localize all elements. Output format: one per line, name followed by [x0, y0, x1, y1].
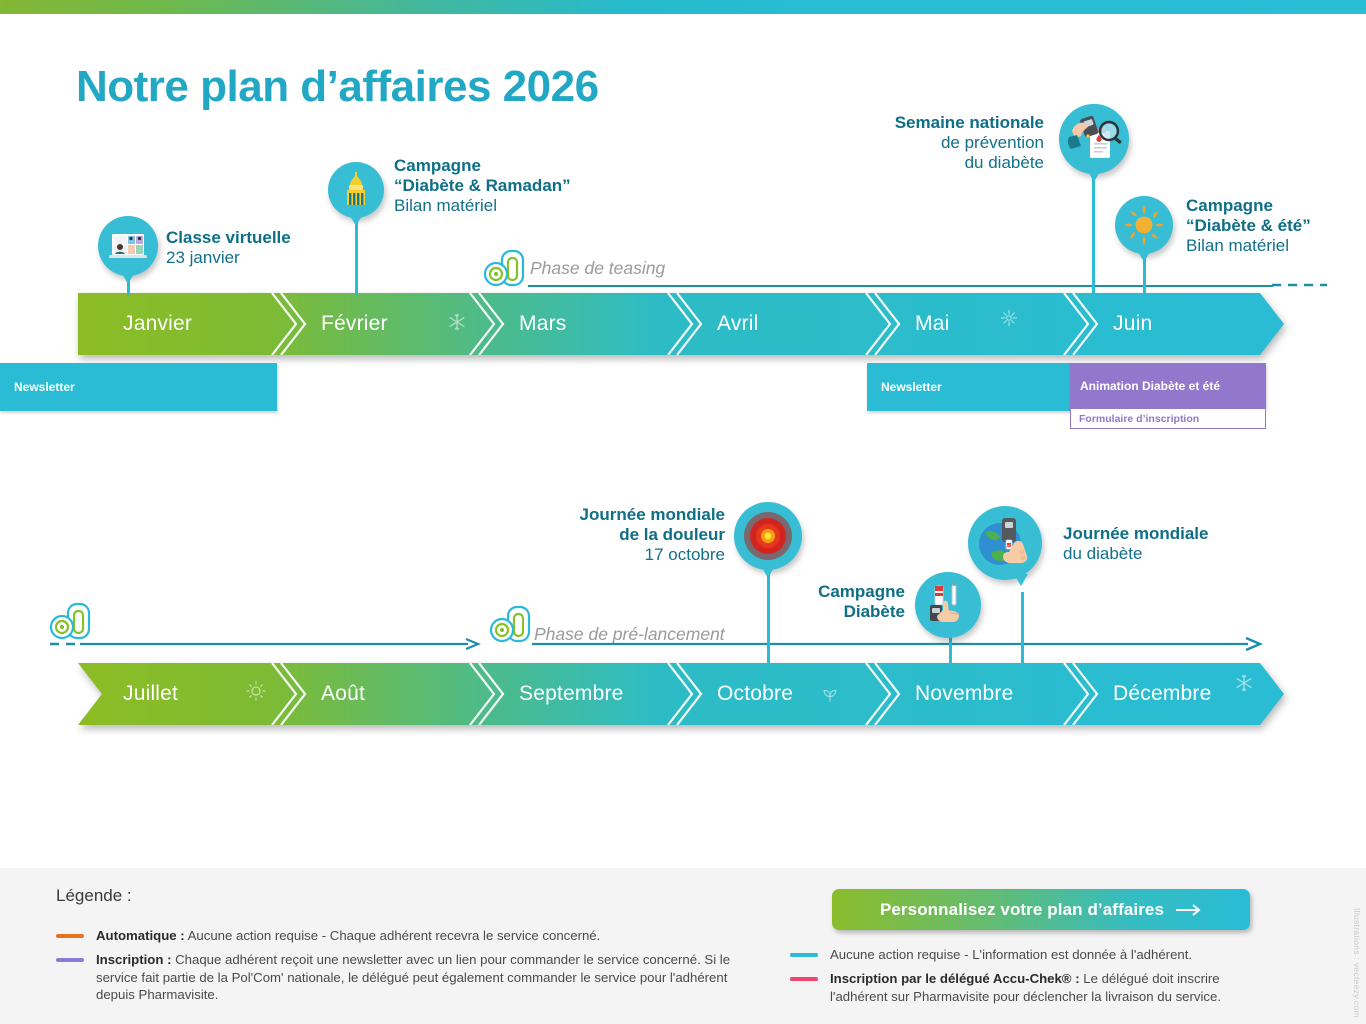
illustration-credit: Illustrations : vecteezy.com — [1352, 908, 1362, 1018]
prelaunch-arrow-right — [532, 636, 1272, 652]
month-label-septembre: Septembre — [519, 682, 624, 706]
callout-title-line2: “Diabète & Ramadan” — [394, 176, 571, 196]
legend-desc: Chaque adhérent reçoit une newsletter av… — [96, 952, 730, 1002]
callout-subtitle: du diabète — [1063, 544, 1208, 564]
legend-item-automatique: Automatique : Aucune action requise - Ch… — [56, 927, 756, 945]
bubble-tail-2 — [349, 214, 363, 226]
flower-icon — [998, 307, 1020, 329]
callout-journee-diabete: Journée mondiale du diabète — [1063, 524, 1208, 564]
callout-subtitle-line1: de prévention — [754, 133, 1044, 153]
legend-item-inscription: Inscription : Chaque adhérent reçoit une… — [56, 951, 756, 1004]
animation-label: Animation Diabète et été — [1080, 379, 1220, 393]
newsletter-label: Newsletter — [881, 380, 942, 394]
glucometer-report-glyph — [1064, 109, 1124, 169]
callout-title-line1: Campagne — [700, 582, 905, 602]
leaf-icon — [820, 684, 840, 704]
callout-diabete-ete: Campagne “Diabète & été” Bilan matériel — [1186, 196, 1311, 256]
callout-title: Classe virtuelle — [166, 228, 291, 248]
top-accent-bar — [0, 0, 1366, 14]
legend-label: Inscription par le délégué Accu-Chek® : — [830, 971, 1080, 986]
mosque-glyph — [336, 170, 376, 210]
legend-swatch-pink — [790, 977, 818, 981]
glucometer-report-icon — [1059, 104, 1129, 174]
callout-subtitle: Bilan matériel — [394, 196, 571, 216]
legend-text: Inscription : Chaque adhérent reçoit une… — [96, 951, 756, 1004]
callout-title-line1: Campagne — [394, 156, 571, 176]
callout-title-line1: Campagne — [1186, 196, 1311, 216]
callout-title-line2: de la douleur — [450, 525, 725, 545]
personalize-plan-button[interactable]: Personnalisez votre plan d’affaires — [832, 889, 1250, 930]
callout-journee-douleur: Journée mondiale de la douleur 17 octobr… — [450, 505, 725, 565]
newsletter-label: Newsletter — [14, 380, 75, 394]
month-label-janvier: Janvier — [123, 312, 192, 336]
callout-classe-virtuelle: Classe virtuelle 23 janvier — [166, 228, 291, 268]
ribbon-shape — [78, 293, 1284, 355]
legend-title: Légende : — [56, 886, 132, 906]
legend-item-aucune-action: Aucune action requise - L'information es… — [790, 946, 1280, 964]
legend-desc: Aucune action requise - L'information es… — [830, 947, 1192, 962]
world-diabetes-glyph — [972, 510, 1038, 576]
animation-sub-label: Formulaire d’inscription — [1079, 413, 1199, 425]
snowflake-icon — [1233, 672, 1255, 694]
bubble-tail-5 — [761, 566, 775, 578]
month-label-fevrier: Février — [321, 312, 388, 336]
cta-label: Personnalisez votre plan d’affaires — [880, 900, 1164, 920]
mosque-icon — [328, 162, 384, 218]
prelaunch-arrow-left — [48, 636, 488, 652]
month-label-octobre: Octobre — [717, 682, 793, 706]
world-diabetes-icon — [968, 506, 1042, 580]
animation-bar-juin[interactable]: Animation Diabète et été — [1070, 363, 1266, 408]
callout-title-line1: Semaine nationale — [754, 113, 1044, 133]
virtual-class-glyph — [105, 223, 151, 269]
arrow-right-icon — [1176, 903, 1202, 917]
legend-text: Aucune action requise - L'information es… — [830, 946, 1192, 964]
callout-subtitle-line2: du diabète — [754, 153, 1044, 173]
callout-campagne-diabete: Campagne Diabète — [700, 582, 905, 622]
legend-desc: Aucune action requise - Chaque adhérent … — [185, 928, 601, 943]
phase-rule-teasing — [528, 285, 1273, 287]
legend-label: Automatique : — [96, 928, 185, 943]
newsletter-bar-janvier[interactable]: Newsletter — [0, 363, 277, 411]
timeline-ribbon-second-half: Juillet Août Septembre Octobre Novembre … — [78, 663, 1284, 725]
pain-target-glyph — [740, 508, 796, 564]
legend-swatch-purple — [56, 958, 84, 962]
newsletter-bar-mai[interactable]: Newsletter — [867, 363, 1072, 411]
callout-title-line2: “Diabète & été” — [1186, 216, 1311, 236]
legend-label: Inscription : — [96, 952, 171, 967]
legend-text: Automatique : Aucune action requise - Ch… — [96, 927, 600, 945]
month-label-mars: Mars — [519, 312, 566, 336]
diabetes-kit-glyph — [921, 578, 975, 632]
legend-swatch-orange — [56, 934, 84, 938]
pin-line-journee-diabete — [1021, 592, 1024, 666]
month-label-avril: Avril — [717, 312, 758, 336]
legend-item-inscription-delegue: Inscription par le délégué Accu-Chek® : … — [790, 970, 1280, 1005]
snowflake-icon — [446, 311, 468, 333]
month-label-aout: Août — [321, 682, 365, 706]
device-strip-icon — [490, 605, 532, 645]
month-label-novembre: Novembre — [915, 682, 1013, 706]
callout-subtitle: Bilan matériel — [1186, 236, 1311, 256]
pain-target-icon — [734, 502, 802, 570]
callout-semaine-nationale: Semaine nationale de prévention du diabè… — [754, 113, 1044, 173]
month-label-juillet: Juillet — [123, 682, 178, 706]
month-label-juin: Juin — [1113, 312, 1152, 336]
callout-title-line1: Journée mondiale — [1063, 524, 1208, 544]
legend-text: Inscription par le délégué Accu-Chek® : … — [830, 970, 1280, 1005]
animation-subscription-form[interactable]: Formulaire d’inscription — [1070, 408, 1266, 429]
phase-label-teasing: Phase de teasing — [530, 258, 665, 279]
callout-subtitle: 23 janvier — [166, 248, 291, 268]
page-title: Notre plan d’affaires 2026 — [76, 62, 599, 112]
timeline-ribbon-first-half: Janvier Février Mars Avril Mai Juin — [78, 293, 1284, 355]
phase-rule-dashes — [1271, 281, 1331, 289]
pin-line-semaine-nationale — [1092, 170, 1095, 296]
bubble-tail-4 — [1137, 250, 1151, 262]
month-label-mai: Mai — [915, 312, 949, 336]
callout-ramadan: Campagne “Diabète & Ramadan” Bilan matér… — [394, 156, 571, 216]
bubble-tail-3 — [1087, 170, 1101, 182]
callout-title-line2: Diabète — [700, 602, 905, 622]
sun-icon — [1115, 196, 1173, 254]
callout-subtitle: 17 octobre — [450, 545, 725, 565]
bubble-tail-7 — [1014, 574, 1028, 586]
callout-title-line1: Journée mondiale — [450, 505, 725, 525]
virtual-class-icon — [98, 216, 158, 276]
bubble-tail-1 — [121, 272, 135, 284]
device-strip-icon — [484, 249, 526, 289]
bubble-tail-6 — [943, 625, 957, 637]
legend-swatch-cyan — [790, 953, 818, 957]
sun-glyph — [1121, 202, 1167, 248]
sun-icon — [244, 679, 268, 703]
month-label-decembre: Décembre — [1113, 682, 1211, 706]
